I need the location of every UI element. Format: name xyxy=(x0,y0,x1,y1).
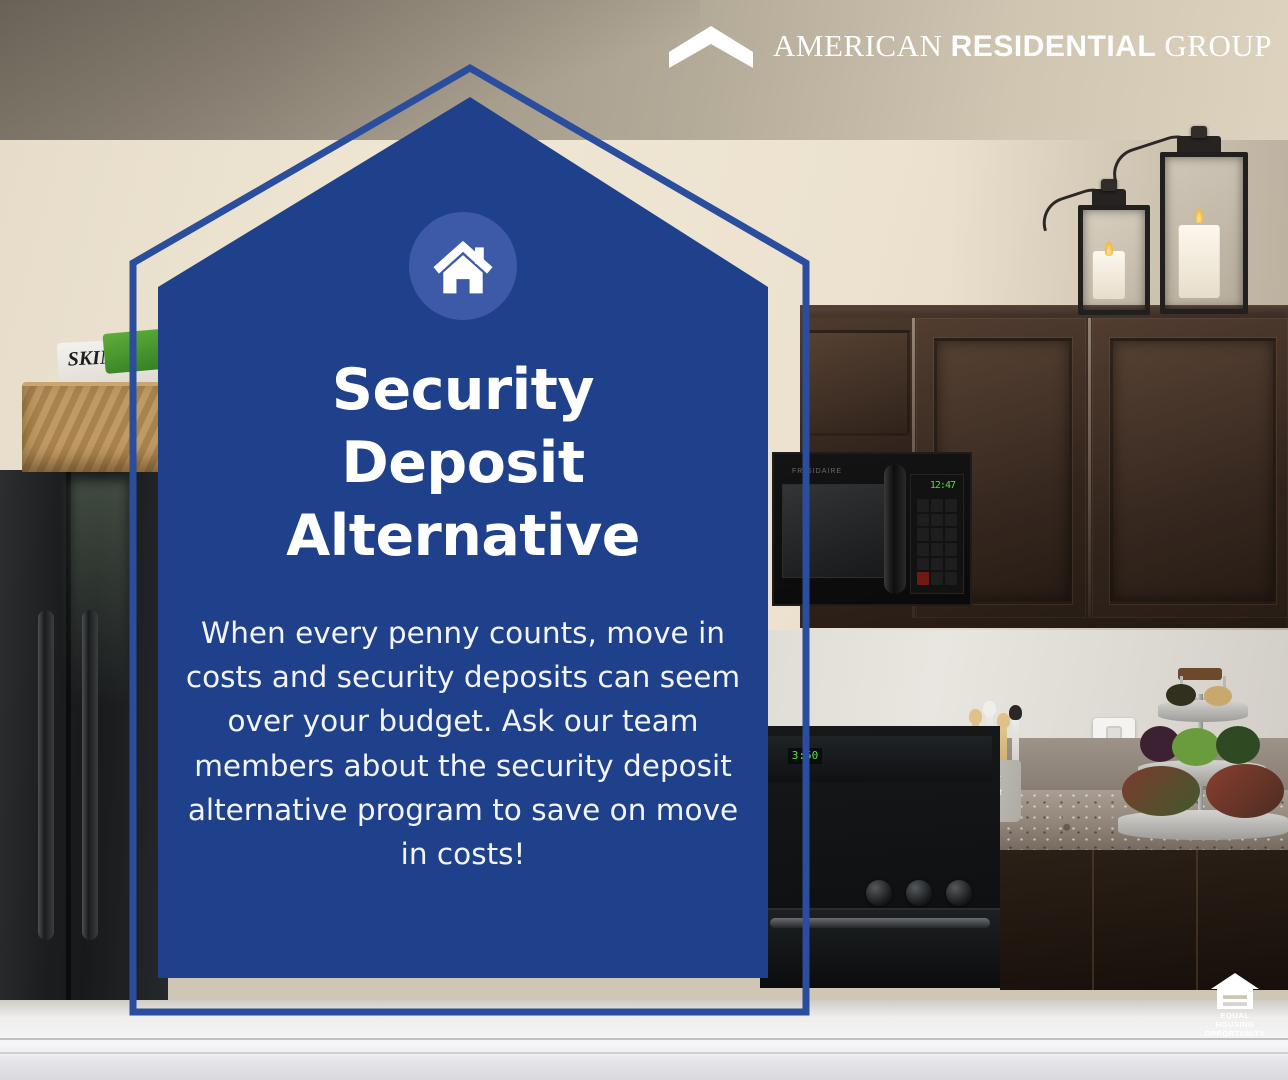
brand-name-part2: RESIDENTIAL xyxy=(951,30,1157,63)
chevron-roof-mark-icon xyxy=(667,22,755,70)
brand-name-part1: AMERICAN xyxy=(773,28,942,63)
page-title: Security Deposit Alternative xyxy=(286,354,640,573)
eho-line-1: EQUAL HOUSING xyxy=(1202,1011,1268,1029)
eho-line-2: OPPORTUNITY xyxy=(1202,1029,1268,1038)
equal-housing-opportunity-logo: EQUAL HOUSING OPPORTUNITY xyxy=(1202,971,1268,1038)
brand-name: AMERICAN RESIDENTIAL GROUP xyxy=(773,28,1272,64)
home-icon xyxy=(428,231,498,301)
home-icon-badge xyxy=(409,212,517,320)
panel-content: Security Deposit Alternative When every … xyxy=(158,180,768,980)
equal-housing-house-icon xyxy=(1209,971,1261,1011)
marketing-graphic: FRIGIDAIRE 12:47 SKINNY xyxy=(0,0,1288,1080)
headline-line-1: Security xyxy=(286,354,640,427)
brand-name-part3: GROUP xyxy=(1164,28,1272,63)
headline-line-2: Deposit xyxy=(286,427,640,500)
brand-logo: AMERICAN RESIDENTIAL GROUP xyxy=(667,22,1272,70)
headline-line-3: Alternative xyxy=(286,500,640,573)
body-copy: When every penny counts, move in costs a… xyxy=(183,611,743,877)
